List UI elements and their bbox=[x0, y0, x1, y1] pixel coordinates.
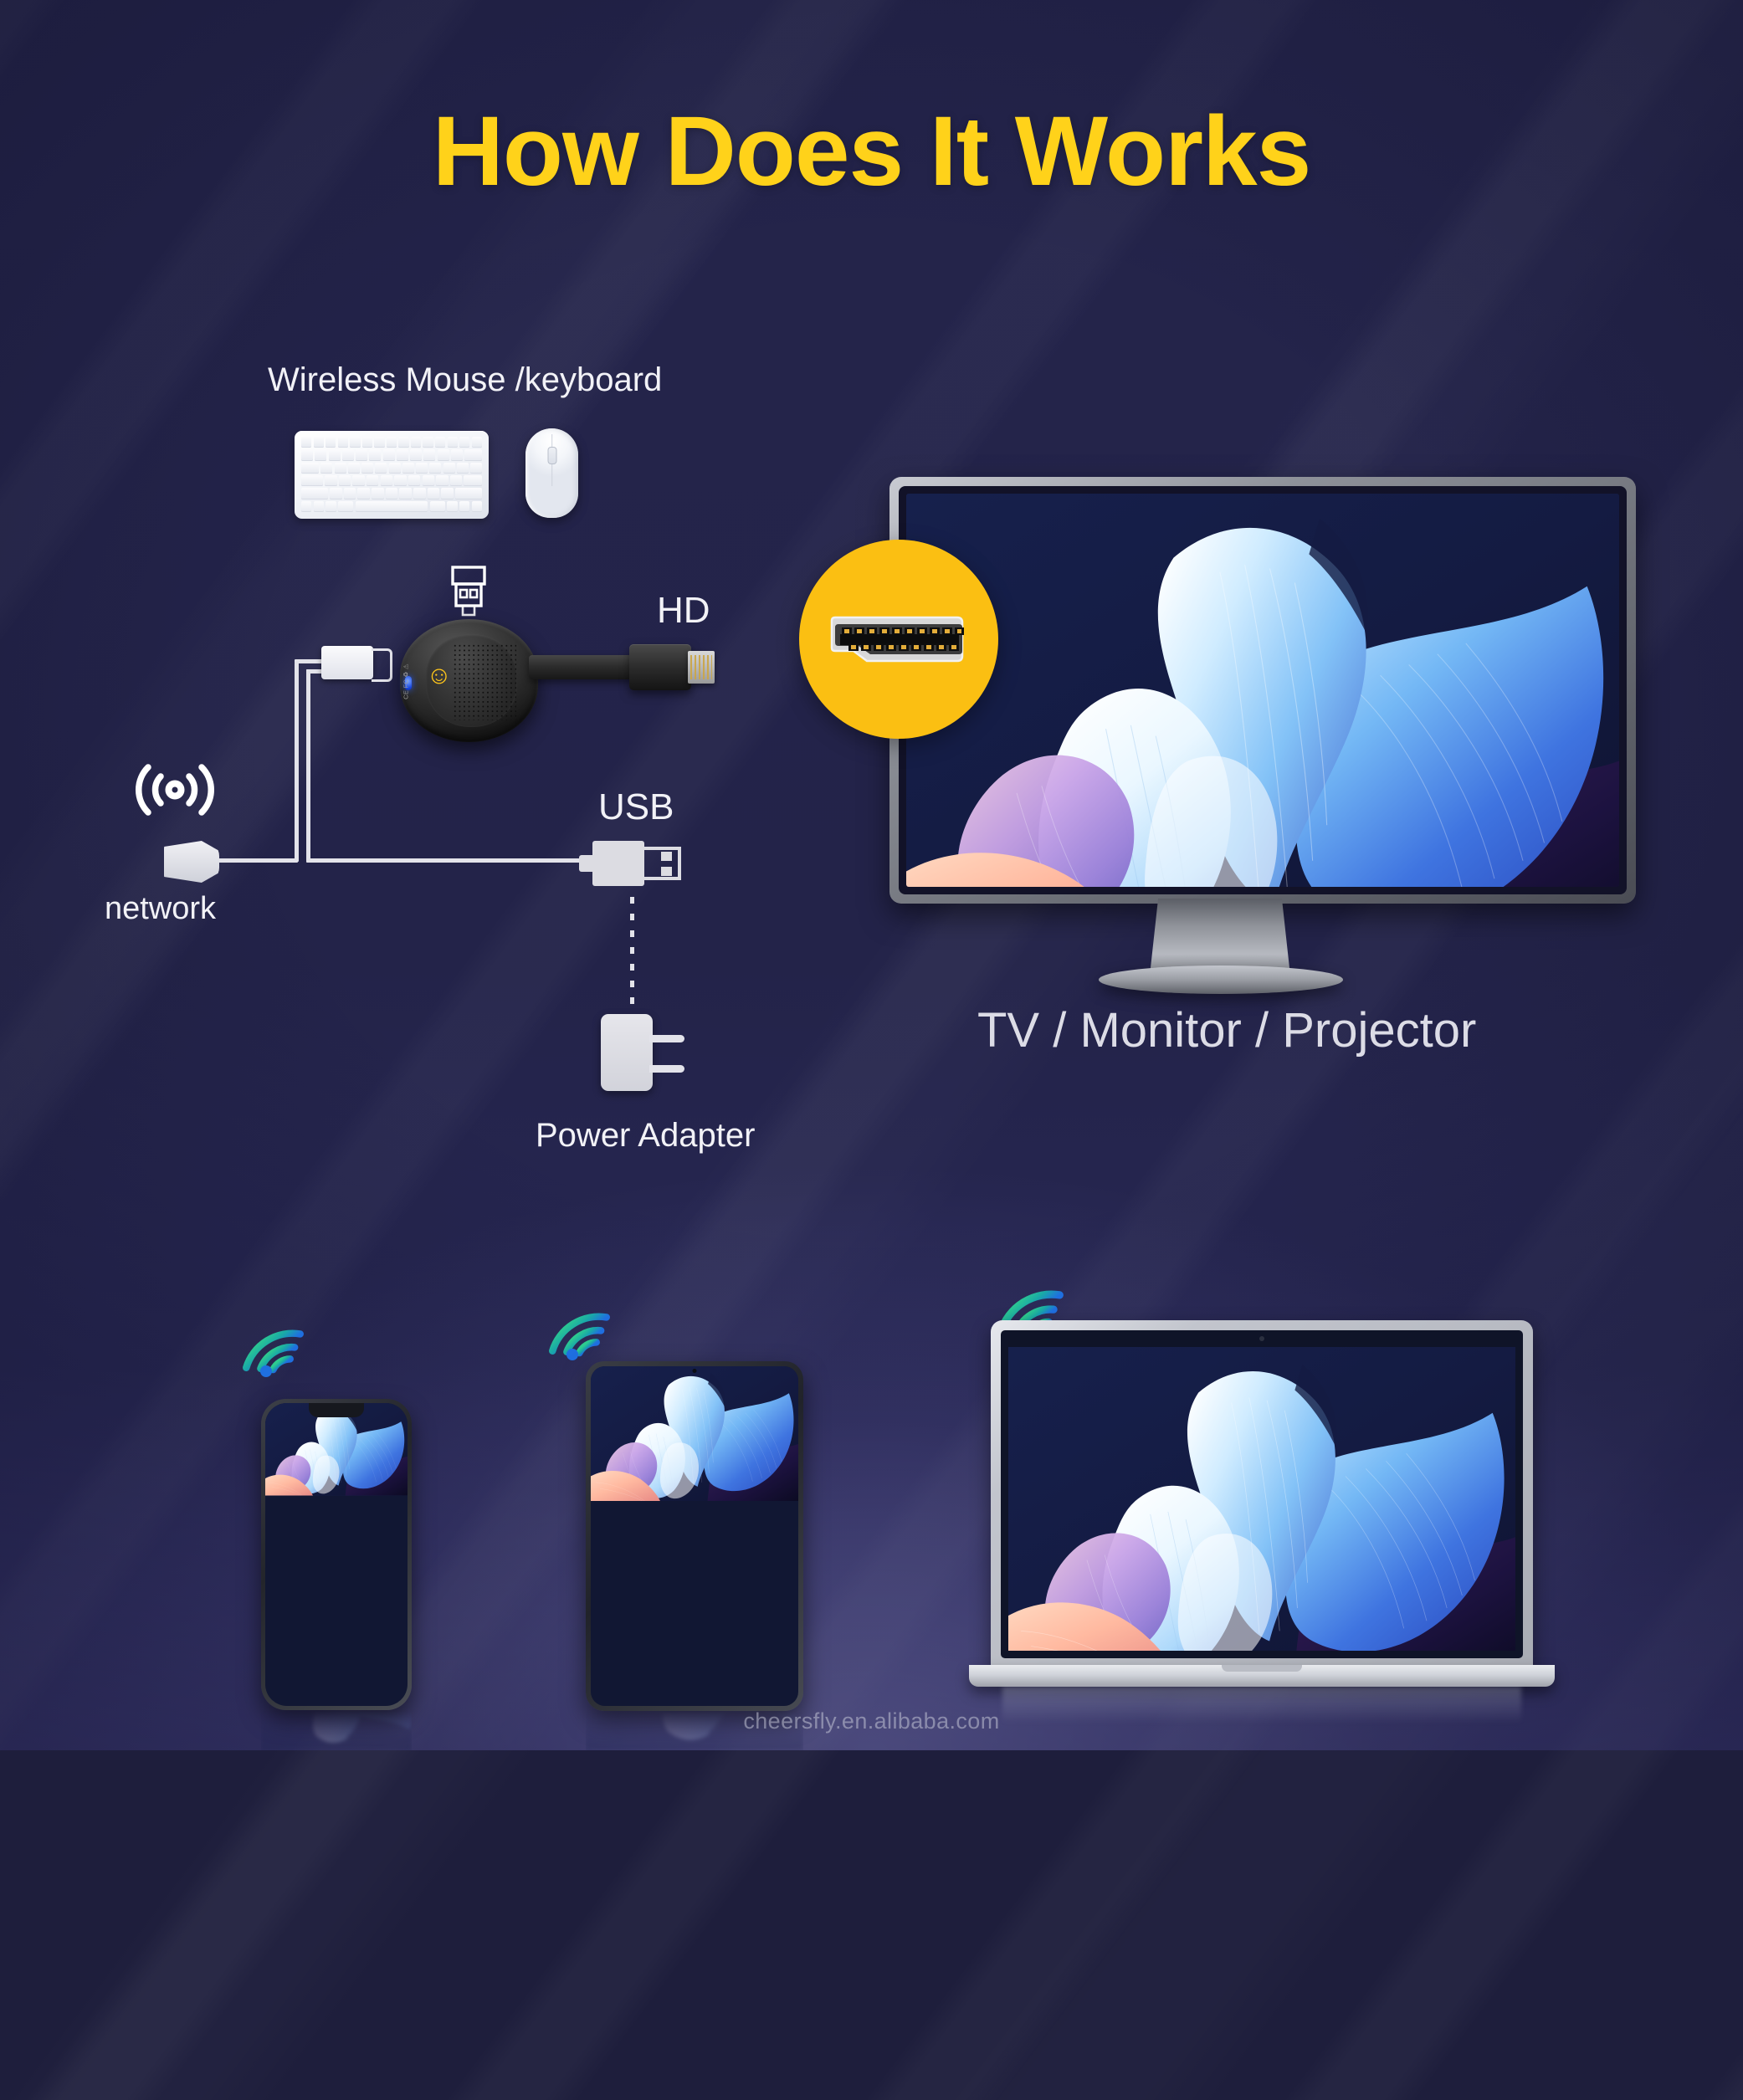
wireless-display-dongle: ☺ CE FC ♻ ⚠ bbox=[400, 619, 538, 742]
laptop-screen bbox=[1008, 1347, 1515, 1651]
keyboard-row bbox=[301, 488, 482, 499]
laptop-wallpaper bbox=[1008, 1347, 1515, 1651]
dongle-hdmi-plug-body bbox=[629, 644, 691, 690]
label-tv-monitor-projector: TV / Monitor / Projector bbox=[977, 1002, 1476, 1058]
phone-screen bbox=[265, 1403, 408, 1706]
cable-power-dotted bbox=[630, 897, 634, 1021]
wifi-signal-icon bbox=[228, 1301, 305, 1378]
hdmi-port-highlight-circle bbox=[799, 540, 998, 739]
phone-notch bbox=[309, 1403, 364, 1417]
laptop-webcam bbox=[1259, 1336, 1264, 1341]
monitor-wallpaper bbox=[906, 494, 1619, 887]
hdmi-plug-pins bbox=[690, 655, 712, 679]
label-usb: USB bbox=[598, 786, 674, 828]
broadcast-signal-icon bbox=[126, 757, 224, 822]
keyboard-row bbox=[301, 463, 482, 474]
cable-network-vertical bbox=[295, 663, 299, 862]
tablet-shell bbox=[586, 1361, 803, 1711]
cable-usb-vertical bbox=[306, 669, 310, 860]
adapter-body bbox=[601, 1014, 653, 1091]
cable-connector-stub-upper bbox=[295, 659, 325, 663]
page-title: How Does It Works bbox=[0, 102, 1743, 201]
monitor-bezel bbox=[899, 486, 1627, 894]
tablet bbox=[586, 1361, 803, 1711]
monitor-stand-base bbox=[1099, 965, 1343, 994]
phone-shell bbox=[261, 1399, 412, 1710]
adapter-prong bbox=[649, 1065, 684, 1073]
monitor-frame bbox=[889, 477, 1636, 904]
laptop-bezel bbox=[1001, 1330, 1523, 1658]
laptop bbox=[969, 1320, 1555, 1722]
tablet-wallpaper bbox=[591, 1366, 798, 1501]
hdmi-port-icon bbox=[820, 604, 977, 674]
tablet-screen bbox=[591, 1366, 798, 1706]
usb-connector-pin bbox=[661, 852, 672, 861]
usb-connector-body bbox=[592, 841, 644, 886]
adapter-prong bbox=[649, 1035, 684, 1042]
keyboard-row bbox=[301, 437, 482, 448]
keyboard-row bbox=[301, 501, 482, 512]
laptop-lid bbox=[991, 1320, 1533, 1670]
label-power-adapter: Power Adapter bbox=[536, 1117, 755, 1155]
cable-network-horizontal bbox=[208, 858, 298, 863]
usb-connector-pin bbox=[661, 867, 672, 876]
dongle-input-connector bbox=[321, 646, 373, 679]
wifi-signal-icon bbox=[534, 1284, 611, 1361]
watermark: cheersfly.en.alibaba.com bbox=[0, 1708, 1743, 1734]
wireless-keyboard bbox=[295, 431, 489, 519]
smartphone bbox=[261, 1399, 412, 1710]
tv-monitor bbox=[889, 477, 1636, 904]
label-wireless-mouse-keyboard: Wireless Mouse /keyboard bbox=[268, 361, 662, 399]
network-plug-icon bbox=[164, 841, 219, 883]
usb-a-connector-icon bbox=[577, 841, 682, 886]
label-network: network bbox=[105, 891, 216, 927]
wireless-mouse bbox=[525, 428, 578, 518]
dongle-hdmi-cable bbox=[529, 655, 633, 679]
laptop-base-notch bbox=[1222, 1665, 1302, 1672]
keyboard-row bbox=[301, 449, 482, 460]
cable-usb-horizontal bbox=[306, 858, 582, 863]
tablet-front-camera bbox=[693, 1369, 697, 1373]
power-adapter-icon bbox=[601, 1014, 703, 1098]
label-hd: HD bbox=[657, 590, 710, 632]
dongle-certification-marks: CE FC ♻ ⚠ bbox=[402, 669, 464, 699]
monitor-stand-neck bbox=[1150, 899, 1290, 976]
keyboard-row bbox=[301, 475, 482, 486]
usb-port-icon bbox=[449, 566, 489, 617]
dongle-hdmi-plug-tip bbox=[688, 651, 715, 684]
monitor-screen bbox=[906, 494, 1619, 887]
